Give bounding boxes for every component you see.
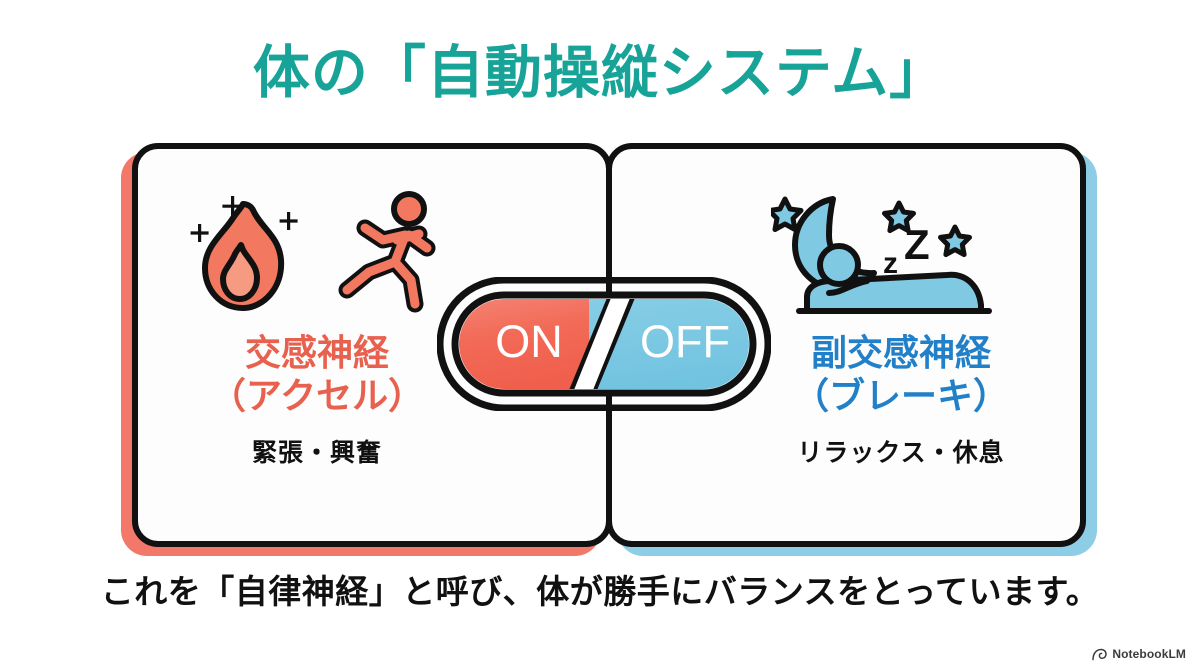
- caption-text: これを「自律神経」と呼び、体が勝手にバランスをとっています。: [0, 570, 1200, 614]
- notebooklm-icon: [1092, 648, 1107, 661]
- toggle-on-label: ON: [495, 316, 563, 367]
- running-person-icon: [331, 190, 449, 314]
- flame-icon: [185, 188, 325, 316]
- panel-left-sublabel: 緊張・興奮: [252, 433, 382, 469]
- page-title: 体の「自動操縦システム」: [0, 38, 1200, 108]
- toggle-off-label: OFF: [640, 316, 730, 367]
- sleeping-person-icon: [820, 246, 858, 284]
- svg-text:Z: Z: [904, 221, 930, 268]
- panel-left-label: 交感神経 （アクセル）: [210, 331, 424, 417]
- notebooklm-label: NotebookLM: [1112, 647, 1186, 661]
- sleeping-scene-icon: z Z: [771, 187, 1031, 317]
- slide-canvas: 体の「自動操縦システム」: [0, 0, 1200, 669]
- panel-right-label: 副交感神経 （ブレーキ）: [793, 331, 1009, 417]
- panel-left-icon-row: [185, 187, 449, 317]
- panel-right-sublabel: リラックス・休息: [797, 433, 1004, 469]
- on-off-toggle[interactable]: ON OFF: [437, 277, 771, 411]
- panel-right-label-line2: （ブレーキ）: [793, 374, 1009, 417]
- panel-left-label-line2: （アクセル）: [210, 374, 424, 417]
- panel-left-label-line1: 交感神経: [245, 332, 389, 373]
- panel-right-label-line1: 副交感神経: [811, 332, 991, 373]
- notebooklm-watermark: NotebookLM: [1092, 647, 1186, 661]
- panel-right-icon-row: z Z: [771, 187, 1031, 317]
